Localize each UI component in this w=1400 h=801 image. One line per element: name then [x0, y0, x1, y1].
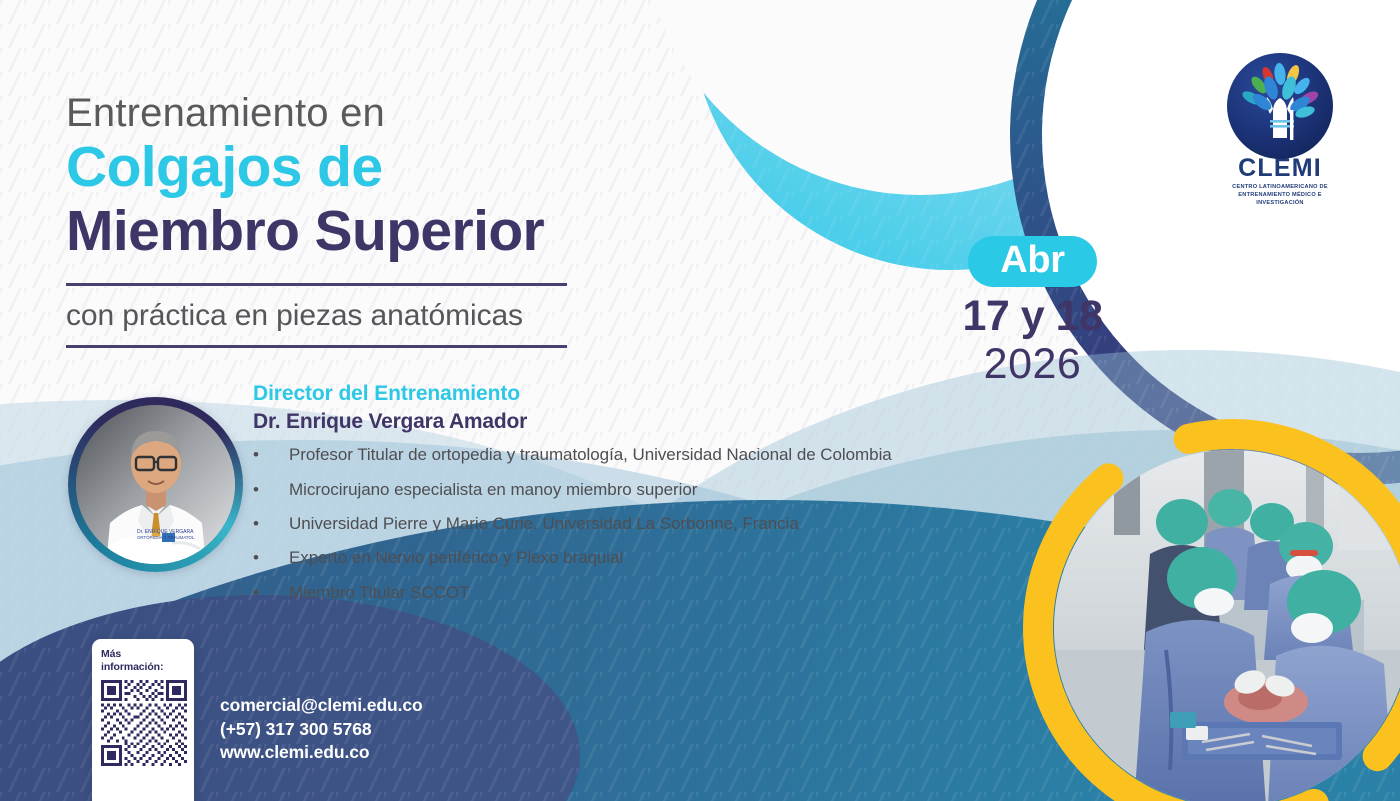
contact-email[interactable]: comercial@clemi.edu.co — [220, 694, 423, 718]
poster-canvas: Entrenamiento en Colgajos de Miembro Sup… — [0, 0, 1400, 801]
bullet-icon: • — [253, 548, 289, 568]
list-item-label: Universidad Pierre y Marie Curie. Univer… — [289, 514, 799, 534]
director-name: Dr. Enrique Vergara Amador — [253, 409, 1053, 436]
list-item-label: Profesor Titular de ortopedia y traumato… — [289, 445, 892, 465]
qr-info-card[interactable]: Más información: — [92, 639, 194, 801]
bullet-icon: • — [253, 480, 289, 500]
logo-tagline-line-2: ENTRENAMIENTO MÉDICO E INVESTIGACIÓN — [1216, 191, 1344, 207]
director-avatar-image: Dr. ENRIQUE VERGARA ORTOPEDIA Y TRAUMATO… — [76, 405, 235, 564]
list-item: • Universidad Pierre y Marie Curie. Univ… — [253, 514, 1053, 534]
bullet-icon: • — [253, 583, 289, 603]
headline-line-2: Colgajos de — [66, 136, 567, 200]
bullet-icon: • — [253, 445, 289, 465]
headline-rule-bottom — [66, 345, 567, 348]
bullet-icon: • — [253, 514, 289, 534]
event-date-block: Abr 17 y 18 2026 — [905, 236, 1160, 387]
contact-phone[interactable]: (+57) 317 300 5768 — [220, 718, 423, 742]
director-credentials-list: • Profesor Titular de ortopedia y trauma… — [253, 445, 1053, 603]
clemi-logo: CLEMI CENTRO LATINOAMERICANO DE ENTRENAM… — [1216, 52, 1344, 207]
list-item: • Profesor Titular de ortopedia y trauma… — [253, 445, 1053, 465]
headline-subtitle: con práctica en piezas anatómicas — [66, 299, 567, 333]
director-info-block: Director del Entrenamiento Dr. Enrique V… — [253, 381, 1053, 617]
headline-rule-top — [66, 283, 567, 286]
headline-line-3: Miembro Superior — [66, 200, 567, 264]
contact-website[interactable]: www.clemi.edu.co — [220, 741, 423, 765]
tree-logo-icon — [1226, 52, 1334, 160]
headline-block: Entrenamiento en Colgajos de Miembro Sup… — [66, 92, 567, 348]
list-item: • Microcirujano especialista en manoy mi… — [253, 480, 1053, 500]
qr-code-icon[interactable] — [101, 680, 187, 766]
list-item: • Miembro Titular SCCOT — [253, 583, 1053, 603]
qr-label-line-1: Más — [101, 648, 186, 661]
qr-label-line-2: información: — [101, 661, 186, 674]
director-avatar: Dr. ENRIQUE VERGARA ORTOPEDIA Y TRAUMATO… — [68, 397, 243, 572]
director-role-label: Director del Entrenamiento — [253, 381, 1053, 407]
surgery-photo-image — [1054, 450, 1400, 801]
surgery-photo-block — [1022, 418, 1400, 801]
list-item-label: Experto en Nervio periférico y Plexo bra… — [289, 548, 623, 568]
logo-tagline-line-1: CENTRO LATINOAMERICANO DE — [1216, 183, 1344, 191]
svg-text:ORTOPEDIA Y TRAUMATOL.: ORTOPEDIA Y TRAUMATOL. — [137, 535, 195, 540]
date-month-badge: Abr — [968, 236, 1097, 287]
contact-block: comercial@clemi.edu.co (+57) 317 300 576… — [220, 694, 423, 765]
list-item: • Experto en Nervio periférico y Plexo b… — [253, 548, 1053, 568]
list-item-label: Miembro Titular SCCOT — [289, 583, 469, 603]
list-item-label: Microcirujano especialista en manoy miem… — [289, 480, 697, 500]
headline-line-1: Entrenamiento en — [66, 92, 567, 134]
date-days: 17 y 18 — [905, 294, 1160, 339]
